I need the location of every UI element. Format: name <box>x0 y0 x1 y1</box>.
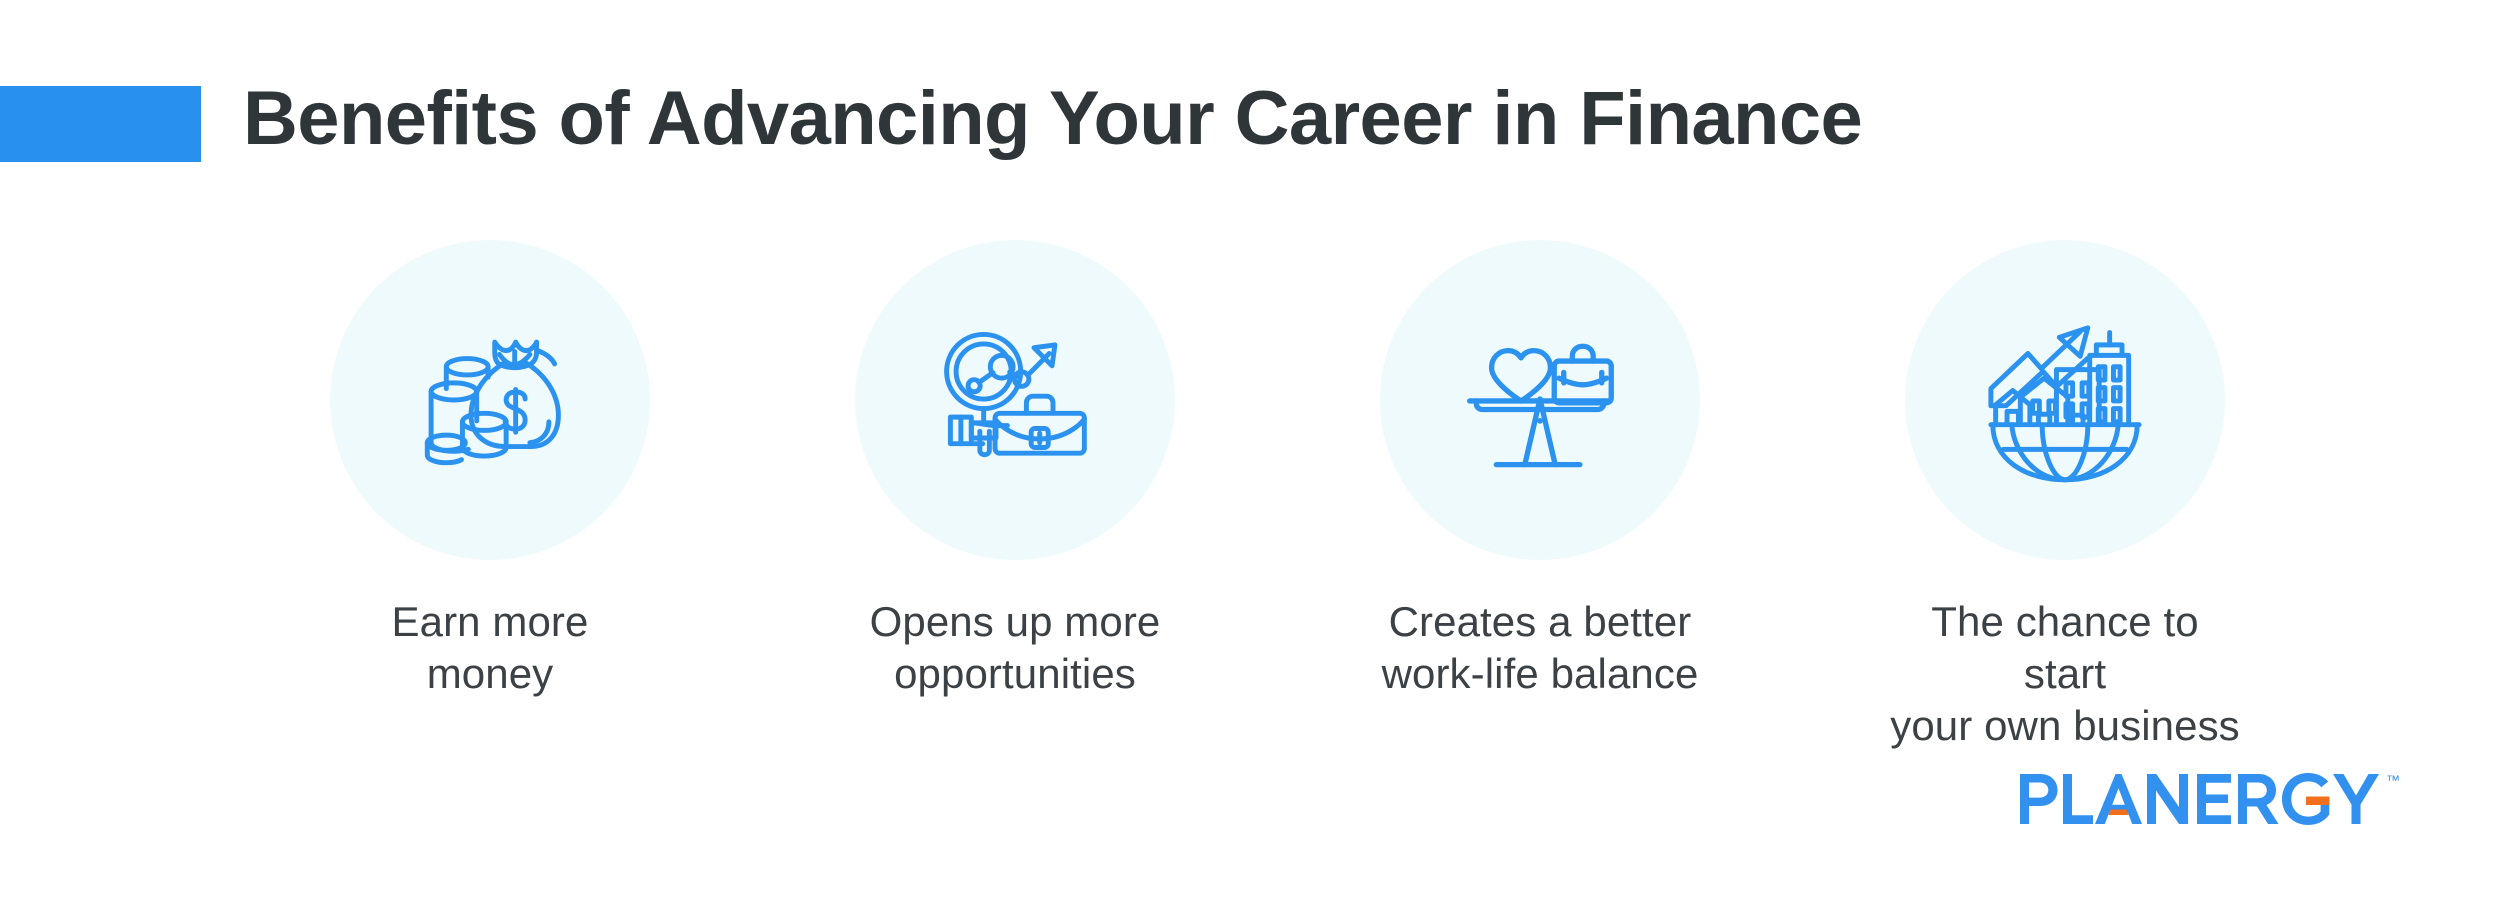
icon-circle <box>1905 240 2225 560</box>
page-header: Benefits of Advancing Your Career in Fin… <box>0 0 2500 200</box>
benefit-card-creates-a-better-work-life-balance: Creates a better work-life balance <box>1360 240 1720 752</box>
planergy-logo: ™ <box>2020 768 2420 830</box>
icon-circle <box>855 240 1175 560</box>
benefit-card-the-chance-to-start-your-own-business: The chance to start your own business <box>1885 240 2245 752</box>
benefits-card-row: Earn more money <box>0 240 2500 752</box>
benefit-card-label: Opens up more opportunities <box>870 596 1161 700</box>
heart-briefcase-balance-scale-icon <box>1445 305 1635 495</box>
accent-bar <box>0 86 201 162</box>
page-title: Benefits of Advancing Your Career in Fin… <box>243 72 1862 166</box>
trademark-symbol: ™ <box>2386 772 2400 788</box>
magnifier-growth-briefcase-icon <box>920 305 1110 495</box>
benefit-card-label: Earn more money <box>392 596 589 700</box>
benefit-card-opens-up-more-opportunities: Opens up more opportunities <box>835 240 1195 752</box>
city-globe-growth-arrow-icon <box>1970 305 2160 495</box>
planergy-wordmark-icon: ™ <box>2020 768 2420 830</box>
benefit-card-earn-more-money: Earn more money <box>310 240 670 752</box>
money-bag-coins-icon <box>395 305 585 495</box>
icon-circle <box>1380 240 1700 560</box>
benefit-card-label: The chance to start your own business <box>1885 596 2245 752</box>
benefit-card-label: Creates a better work-life balance <box>1382 596 1699 700</box>
icon-circle <box>330 240 650 560</box>
